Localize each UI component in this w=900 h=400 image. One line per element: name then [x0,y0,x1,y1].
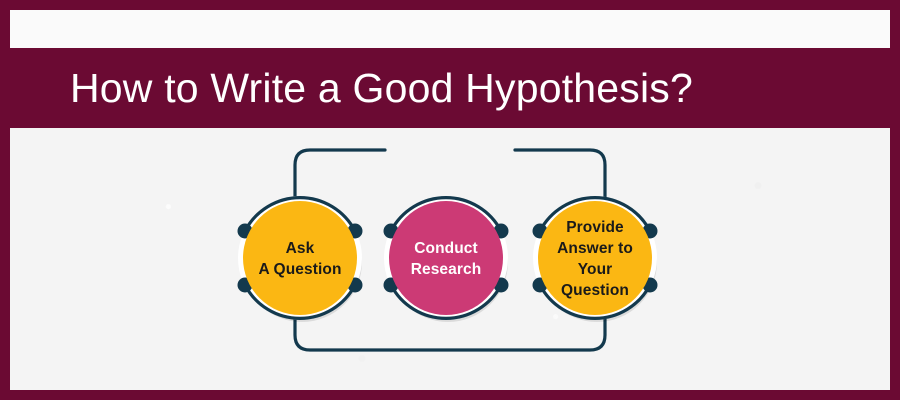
step1-label-line2: A Question [258,261,341,278]
step-node-provide-answer[interactable]: Provide Answer to Your Question [533,196,658,322]
infographic-poster: How to Write a Good Hypothesis? [0,0,900,400]
step-node-conduct-research[interactable]: Conduct Research [384,196,509,322]
title-banner: How to Write a Good Hypothesis? [0,48,900,128]
step3-label-line2: Answer to [557,240,633,257]
page-title: How to Write a Good Hypothesis? [0,68,693,109]
step3-label-line3: Your [578,261,613,278]
process-flow-diagram: Ask A Question Conduct Research [10,128,890,390]
step3-label-line4: Question [561,282,629,299]
step1-label-line1: Ask [286,240,315,257]
step2-circle[interactable] [389,201,503,315]
step2-label-line1: Conduct [414,240,478,257]
step3-label-line1: Provide [566,219,624,236]
step-node-ask-a-question[interactable]: Ask A Question [238,196,363,322]
step1-circle[interactable] [243,201,357,315]
step2-label-line2: Research [411,261,482,278]
diagram-panel: Ask A Question Conduct Research [10,128,890,390]
top-white-strip [10,10,890,48]
